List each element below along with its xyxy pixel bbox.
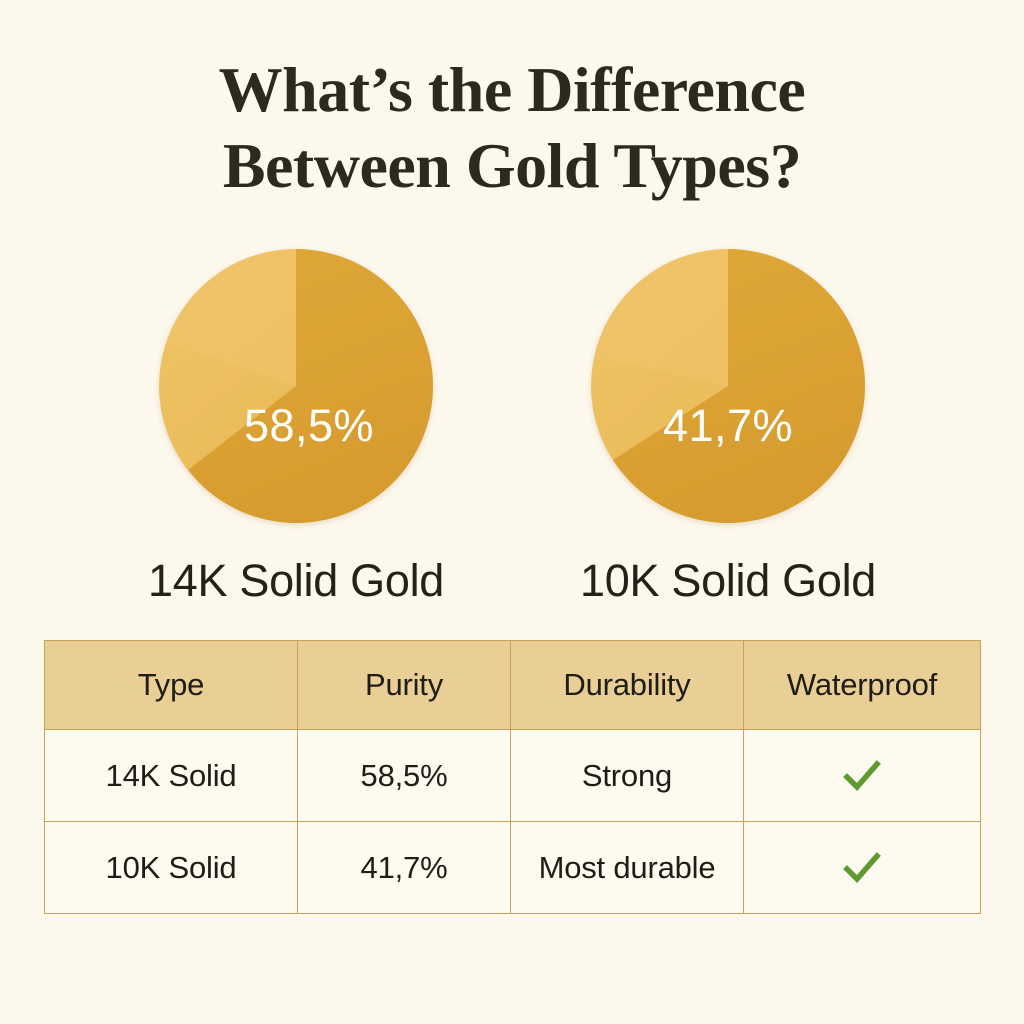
title-line-1: What’s the Difference	[0, 52, 1024, 128]
chart-card-10k: 41,7% 10K Solid Gold	[513, 249, 943, 607]
cell-type: 14K Solid	[45, 730, 298, 822]
cell-purity: 58,5%	[298, 730, 511, 822]
column-header-purity: Purity	[298, 641, 511, 730]
pie-graphic-14k	[159, 249, 433, 523]
title-line-2: Between Gold Types?	[0, 128, 1024, 204]
cell-durability: Most durable	[511, 822, 744, 914]
chart-caption-10k: 10K Solid Gold	[513, 555, 943, 607]
pie-chart-14k: 58,5%	[159, 249, 433, 523]
cell-purity: 41,7%	[298, 822, 511, 914]
chart-caption-14k: 14K Solid Gold	[81, 555, 511, 607]
chart-card-14k: 58,5% 14K Solid Gold	[81, 249, 511, 607]
check-icon	[841, 755, 883, 797]
pie-chart-10k: 41,7%	[591, 249, 865, 523]
gold-types-infographic: What’s the Difference Between Gold Types…	[0, 0, 1024, 1024]
cell-waterproof	[744, 730, 981, 822]
pie-graphic-10k	[591, 249, 865, 523]
column-header-waterproof: Waterproof	[744, 641, 981, 730]
table-row: 14K Solid 58,5% Strong	[45, 730, 981, 822]
cell-type: 10K Solid	[45, 822, 298, 914]
page-title: What’s the Difference Between Gold Types…	[0, 52, 1024, 204]
column-header-type: Type	[45, 641, 298, 730]
column-header-durability: Durability	[511, 641, 744, 730]
table-row: 10K Solid 41,7% Most durable	[45, 822, 981, 914]
cell-durability: Strong	[511, 730, 744, 822]
check-icon	[841, 847, 883, 889]
cell-waterproof	[744, 822, 981, 914]
gold-comparison-table: Type Purity Durability Waterproof 14K So…	[44, 640, 981, 914]
pie-charts-row: 58,5% 14K Solid Gold	[0, 249, 1024, 599]
table-header-row: Type Purity Durability Waterproof	[45, 641, 981, 730]
